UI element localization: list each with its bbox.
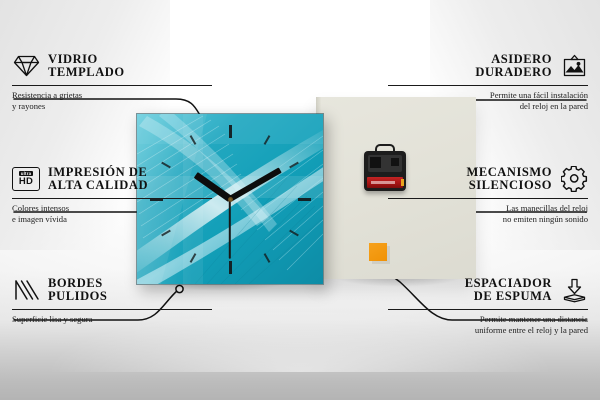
hour-marker xyxy=(229,261,232,274)
feature-title: VIDRIO TEMPLADO xyxy=(48,53,125,80)
feature-title: BORDES PULIDOS xyxy=(48,277,107,304)
framed-picture-hook-icon xyxy=(560,52,588,80)
feature-divider xyxy=(12,198,212,199)
feature-heading: VIDRIO TEMPLADO xyxy=(12,52,212,80)
feature-heading: ASIDERO DURADERO xyxy=(388,52,588,80)
hour-marker xyxy=(161,230,171,237)
feature-divider xyxy=(12,85,212,86)
feature-title: ESPACIADOR DE ESPUMA xyxy=(465,277,552,304)
feature-description: Permite una fácil instalación del reloj … xyxy=(388,90,588,111)
polished-edges-icon xyxy=(12,276,40,304)
feature-vidrio-templado: VIDRIO TEMPLADO Resistencia a grietas y … xyxy=(12,52,212,111)
foam-spacer-arrow-icon xyxy=(560,276,588,304)
clock-hands-hub xyxy=(228,197,233,202)
hour-marker xyxy=(289,162,299,169)
feature-mecanismo-silencioso: MECANISMO SILENCIOSO Las manecillas del … xyxy=(388,165,588,224)
hour-marker xyxy=(190,135,197,145)
mechanism-hanger-icon xyxy=(375,144,395,155)
feature-heading: ESPACIADOR DE ESPUMA xyxy=(388,276,588,304)
hour-marker xyxy=(264,135,271,145)
ultra-hd-icon: ultra HD xyxy=(12,165,40,193)
second-hand xyxy=(229,199,231,259)
feature-description: Resistencia a grietas y rayones xyxy=(12,90,212,111)
ultra-hd-icon-main-label: HD xyxy=(19,177,33,187)
feature-description: Superficie lisa y segura xyxy=(12,314,212,325)
feature-title: ASIDERO DURADERO xyxy=(475,53,552,80)
feature-bordes-pulidos: BORDES PULIDOS Superficie lisa y segura xyxy=(12,276,212,325)
feature-divider xyxy=(388,198,588,199)
feature-title: IMPRESIÓN DE ALTA CALIDAD xyxy=(48,166,148,193)
hour-marker xyxy=(298,198,311,201)
minute-hand xyxy=(229,167,282,201)
hour-marker xyxy=(190,253,197,263)
feature-description: Las manecillas del reloj no emiten ningú… xyxy=(388,203,588,224)
feature-asidero-duradero: ASIDERO DURADERO Permite una fácil insta… xyxy=(388,52,588,111)
feature-heading: MECANISMO SILENCIOSO xyxy=(388,165,588,193)
gear-icon xyxy=(560,165,588,193)
feature-description: Colores intensos e imagen vívida xyxy=(12,203,212,224)
feature-heading: BORDES PULIDOS xyxy=(12,276,212,304)
feature-espaciador-de-espuma: ESPACIADOR DE ESPUMA Permite mantener un… xyxy=(388,276,588,335)
hour-marker xyxy=(229,125,232,138)
feature-impresion-alta-calidad: ultra HD IMPRESIÓN DE ALTA CALIDAD Color… xyxy=(12,165,212,224)
infographic-canvas: VIDRIO TEMPLADO Resistencia a grietas y … xyxy=(0,0,600,400)
feature-description: Permite mantener una distancia uniforme … xyxy=(388,314,588,335)
hour-marker xyxy=(264,253,271,263)
foam-spacer xyxy=(369,243,387,261)
diamond-icon xyxy=(12,52,40,80)
feature-heading: ultra HD IMPRESIÓN DE ALTA CALIDAD xyxy=(12,165,212,193)
hour-marker xyxy=(289,230,299,237)
feature-divider xyxy=(12,309,212,310)
feature-title: MECANISMO SILENCIOSO xyxy=(466,166,552,193)
feature-divider xyxy=(388,85,588,86)
feature-divider xyxy=(388,309,588,310)
